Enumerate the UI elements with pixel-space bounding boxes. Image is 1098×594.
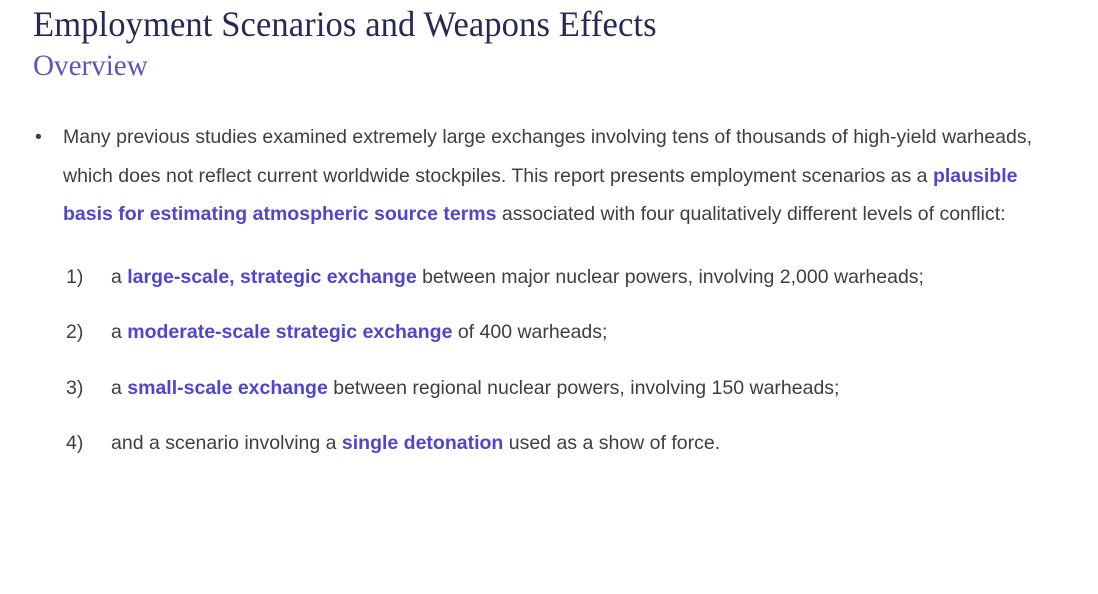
highlighted-phrase: moderate-scale strategic exchange [127,321,452,343]
numbered-item-text-4: and a scenario involving a single detona… [111,424,1068,463]
highlighted-phrase: plausible basis for estimating atmospher… [63,165,1017,226]
highlighted-phrase: large-scale, strategic exchange [127,266,416,288]
highlighted-phrase: small-scale exchange [127,377,328,399]
title-block: Employment Scenarios and Weapons Effects… [33,2,1073,84]
numbered-item-text-2: a moderate-scale strategic exchange of 4… [111,313,1068,352]
bullet-marker: • [35,118,51,157]
list-item: 2) a moderate-scale strategic exchange o… [66,313,1068,352]
list-marker-2: 2) [66,313,100,352]
bullet-list: • Many previous studies examined extreme… [33,118,1068,234]
slide-canvas: Employment Scenarios and Weapons Effects… [0,0,1098,594]
numbered-item-text-3: a small-scale exchange between regional … [111,369,1068,408]
list-item: 1) a large-scale, strategic exchange bet… [66,258,1068,297]
bullet-item-text: Many previous studies examined extremely… [63,118,1068,234]
list-marker-1: 1) [66,258,100,297]
highlighted-phrase: single detonation [342,432,503,454]
list-marker-3: 3) [66,369,100,408]
slide-body: • Many previous studies examined extreme… [33,118,1068,439]
numbered-list: 1) a large-scale, strategic exchange bet… [33,258,1068,463]
page-subtitle: Overview [33,46,1042,84]
list-item: 4) and a scenario involving a single det… [66,424,1068,463]
list-item: • Many previous studies examined extreme… [33,118,1068,234]
list-item: 3) a small-scale exchange between region… [66,369,1068,408]
numbered-item-text-1: a large-scale, strategic exchange betwee… [111,258,1068,297]
page-title: Employment Scenarios and Weapons Effects [33,2,1031,46]
list-marker-4: 4) [66,424,100,463]
